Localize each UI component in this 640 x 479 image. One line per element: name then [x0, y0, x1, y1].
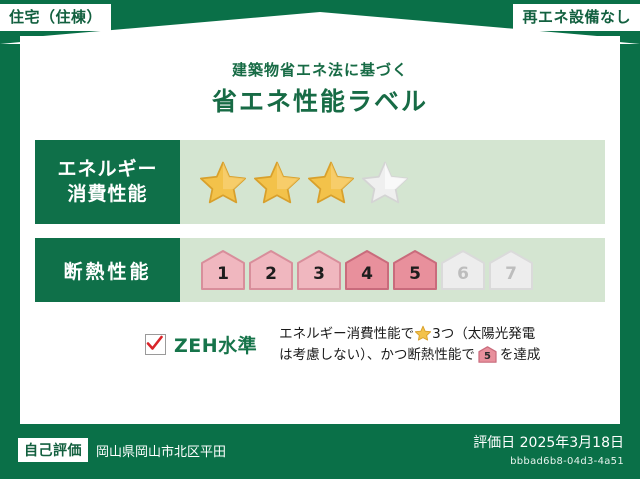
insulation-level-6: 6 — [440, 249, 486, 291]
house-icon-inline-level: 5 — [477, 346, 498, 363]
insulation-level-6-value: 6 — [440, 249, 486, 291]
zeh-description: エネルギー消費性能で3つ（太陽光発電 は考慮しない）、かつ断熱性能で5を達成 — [257, 324, 605, 366]
evaluation-type-badge: 自己評価 — [18, 438, 88, 462]
energy-performance-label: 住宅（住棟） 再エネ設備なし 建築物省エネ法に基づく 省エネ性能ラベル エネルギ… — [0, 0, 640, 479]
label-identifier: bbbad6b8-04d3-4a51 — [473, 456, 624, 467]
insulation-level-2: 2 — [248, 249, 294, 291]
zeh-desc-part4: を達成 — [500, 347, 541, 363]
insulation-level-4-value: 4 — [344, 249, 390, 291]
insulation-level-2-value: 2 — [248, 249, 294, 291]
label-card: 建築物省エネ法に基づく 省エネ性能ラベル エネルギー 消費性能 — [20, 36, 620, 424]
insulation-level-1: 1 — [200, 249, 246, 291]
star-icon-filled-3 — [308, 159, 354, 205]
energy-label-line1: エネルギー — [57, 157, 157, 182]
zeh-desc-part3: は考慮しない）、かつ断熱性能で — [279, 347, 475, 363]
insulation-performance-label: 断熱性能 — [35, 238, 180, 302]
star-icon-filled-2 — [254, 159, 300, 205]
energy-performance-label: エネルギー 消費性能 — [35, 140, 180, 224]
evaluation-date: 評価日 2025年3月18日 — [473, 432, 624, 452]
insulation-level-1-value: 1 — [200, 249, 246, 291]
insulation-level-3-value: 3 — [296, 249, 342, 291]
zeh-desc-part2: 3つ（太陽光発電 — [432, 326, 535, 342]
card-roof-shape — [20, 12, 620, 38]
energy-performance-row: エネルギー 消費性能 — [35, 140, 605, 224]
subtitle-law: 建築物省エネ法に基づく — [20, 59, 620, 80]
property-address: 岡山県岡山市北区平田 — [96, 441, 226, 460]
zeh-desc-part1: エネルギー消費性能で — [279, 326, 414, 342]
star-icon-empty-4 — [362, 159, 408, 205]
energy-label-line2: 消費性能 — [67, 182, 147, 207]
insulation-level-scale: 1 2 3 — [180, 249, 605, 291]
insulation-performance-row: 断熱性能 1 2 — [35, 238, 605, 302]
insulation-level-5: 5 — [392, 249, 438, 291]
insulation-level-7-value: 7 — [488, 249, 534, 291]
insulation-level-4: 4 — [344, 249, 390, 291]
zeh-check-group: ZEH水準 — [35, 324, 257, 358]
zeh-label: ZEH水準 — [174, 331, 257, 358]
insulation-level-3: 3 — [296, 249, 342, 291]
energy-star-rating — [180, 159, 605, 205]
star-icon-inline — [415, 325, 431, 341]
star-icon-filled-1 — [200, 159, 246, 205]
footer-left-group: 自己評価 岡山県岡山市北区平田 — [18, 438, 226, 462]
zeh-standard-row: ZEH水準 エネルギー消費性能で3つ（太陽光発電 は考慮しない）、かつ断熱性能で… — [35, 324, 605, 366]
insulation-level-5-value: 5 — [392, 249, 438, 291]
label-footer: 自己評価 岡山県岡山市北区平田 評価日 2025年3月18日 bbbad6b8-… — [0, 424, 640, 479]
footer-right-group: 評価日 2025年3月18日 bbbad6b8-04d3-4a51 — [473, 432, 624, 467]
house-icon-inline-value: 5 — [477, 346, 498, 363]
insulation-level-7: 7 — [488, 249, 534, 291]
zeh-checkbox-checked — [145, 334, 166, 355]
page-title: 省エネ性能ラベル — [20, 82, 620, 118]
